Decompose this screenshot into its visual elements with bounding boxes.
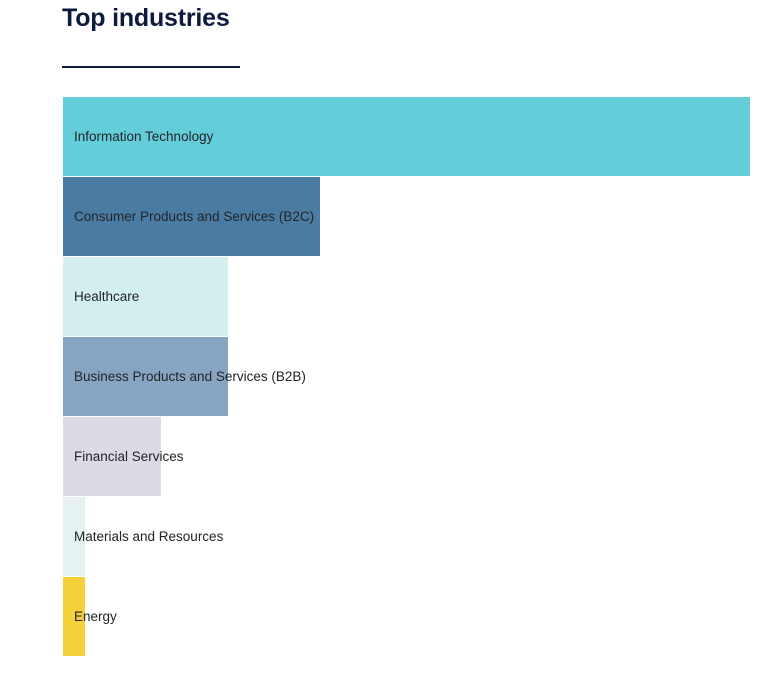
- bar-segment[interactable]: [63, 177, 320, 256]
- panel-header: Top industries: [62, 2, 662, 34]
- bar-segment[interactable]: [63, 577, 85, 656]
- bar-row[interactable]: Energy: [0, 577, 772, 656]
- title-underline-divider: [62, 66, 240, 68]
- bar-segment[interactable]: [63, 257, 228, 336]
- bar-row[interactable]: Consumer Products and Services (B2C): [0, 177, 772, 256]
- bar-label: Materials and Resources: [74, 497, 223, 576]
- bar-row[interactable]: Healthcare: [0, 257, 772, 336]
- top-industries-panel: Top industries Information TechnologyCon…: [0, 0, 772, 688]
- bar-segment[interactable]: [63, 97, 750, 176]
- page-title: Top industries: [62, 2, 662, 34]
- bar-segment[interactable]: [63, 417, 161, 496]
- bar-row[interactable]: Information Technology: [0, 97, 772, 176]
- bar-row[interactable]: Materials and Resources: [0, 497, 772, 576]
- bar-segment[interactable]: [63, 337, 228, 416]
- top-industries-bar-chart: Information TechnologyConsumer Products …: [0, 97, 772, 657]
- bar-row[interactable]: Business Products and Services (B2B): [0, 337, 772, 416]
- bar-segment[interactable]: [63, 497, 85, 576]
- bar-row[interactable]: Financial Services: [0, 417, 772, 496]
